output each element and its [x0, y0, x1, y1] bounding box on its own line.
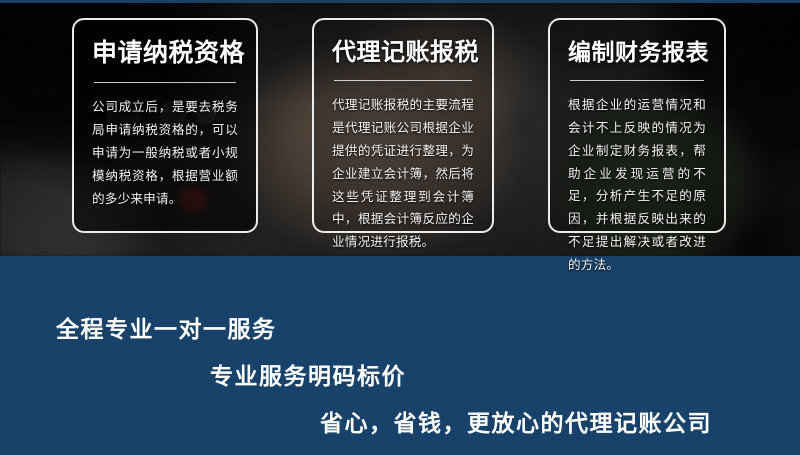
- card-body-text: 代理记账报税的主要流程是代理记账公司根据企业提供的凭证进行整理，为企业建立会计簿…: [332, 94, 474, 254]
- card-body-text: 根据企业的运营情况和会计不上反映的情况为企业制定财务报表，帮助企业发现运营的不足…: [568, 94, 706, 277]
- card-body-text: 公司成立后，是要去税务局申请纳税资格的，可以申请为一般纳税或者小规模纳税资格，根…: [92, 96, 238, 211]
- slogan-line-2: 专业服务明码标价: [210, 357, 406, 391]
- card-divider-rule: [94, 82, 236, 83]
- slogan-line-1: 全程专业一对一服务: [56, 310, 277, 344]
- card-title: 编制财务报表: [568, 40, 706, 65]
- card-divider-rule: [334, 80, 472, 81]
- service-cards-row: 申请纳税资格 公司成立后，是要去税务局申请纳税资格的，可以申请为一般纳税或者小规…: [0, 0, 800, 256]
- slogan-line-3: 省心，省钱，更放心的代理记账公司: [320, 404, 712, 438]
- service-card-financial-statements[interactable]: 编制财务报表 根据企业的运营情况和会计不上反映的情况为企业制定财务报表，帮助企业…: [548, 18, 726, 233]
- service-card-tax-qualification[interactable]: 申请纳税资格 公司成立后，是要去税务局申请纳税资格的，可以申请为一般纳税或者小规…: [72, 18, 258, 233]
- service-card-bookkeeping-tax[interactable]: 代理记账报税 代理记账报税的主要流程是代理记账公司根据企业提供的凭证进行整理，为…: [312, 18, 494, 233]
- slogan-band: 全程专业一对一服务 专业服务明码标价 省心，省钱，更放心的代理记账公司: [0, 256, 800, 455]
- card-title: 申请纳税资格: [92, 40, 238, 67]
- card-divider-rule: [570, 80, 704, 81]
- card-title: 代理记账报税: [332, 40, 474, 66]
- top-accent-strip: [0, 0, 800, 3]
